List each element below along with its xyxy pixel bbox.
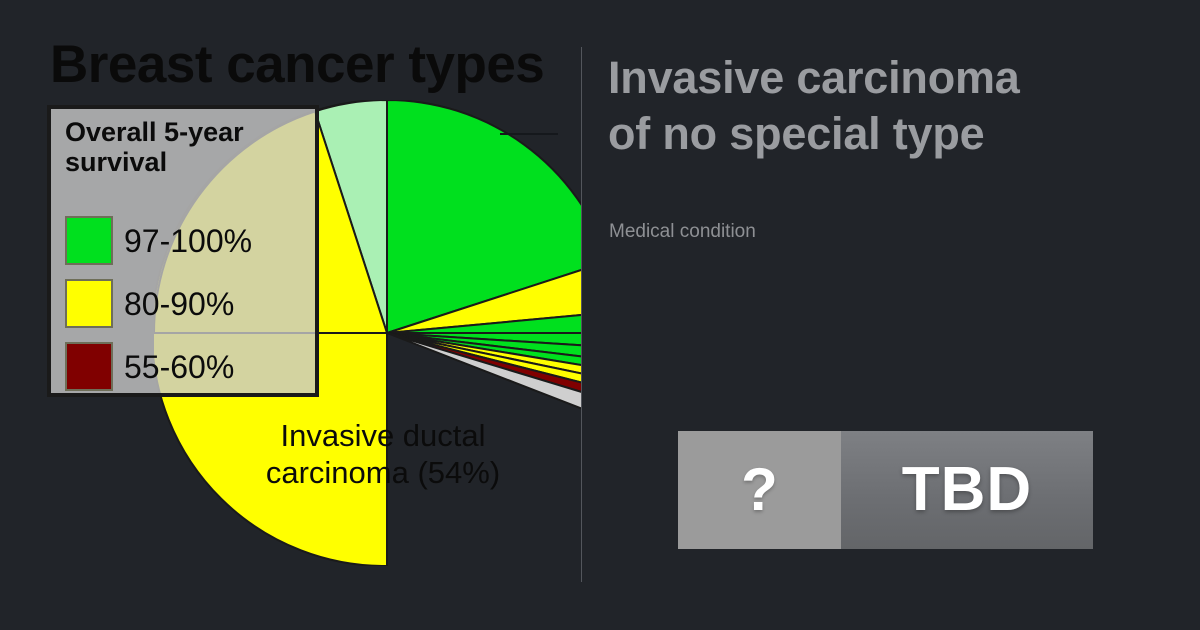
legend-swatch-icon: [65, 216, 113, 265]
legend-items: 97-100% 80-90% 55-60%: [65, 209, 315, 398]
page-root: Breast cancer types: [0, 0, 1200, 630]
entity-info-panel: Invasive carcinoma of no special type Me…: [582, 0, 1200, 630]
page-title: Invasive carcinoma of no special type: [608, 50, 1200, 163]
legend-swatch-icon: [65, 279, 113, 328]
legend-item-label: 97-100%: [124, 225, 252, 257]
chart-title: Breast cancer types: [50, 38, 544, 91]
badge-symbol-section: ?: [678, 431, 841, 549]
entity-subtitle: Medical condition: [609, 222, 756, 241]
chart-image-panel: Breast cancer types: [0, 0, 581, 630]
legend-item-label: 80-90%: [124, 288, 234, 320]
question-mark-icon: ?: [741, 460, 778, 520]
status-badge: ? TBD: [678, 431, 1093, 549]
legend-item: 97-100%: [65, 209, 315, 272]
legend-item-label: 55-60%: [124, 351, 234, 383]
pie-leader-line: [500, 133, 558, 135]
legend-item: 55-60%: [65, 335, 315, 398]
legend-swatch-icon: [65, 342, 113, 391]
pie-slice-label-idc: Invasive ductal carcinoma (54%): [218, 418, 548, 491]
badge-label: TBD: [902, 459, 1032, 521]
legend-title: Overall 5-year survival: [65, 117, 315, 177]
legend-item: 80-90%: [65, 272, 315, 335]
badge-text-section: TBD: [841, 431, 1093, 549]
chart-legend: Overall 5-year survival 97-100% 80-90% 5…: [47, 105, 319, 397]
